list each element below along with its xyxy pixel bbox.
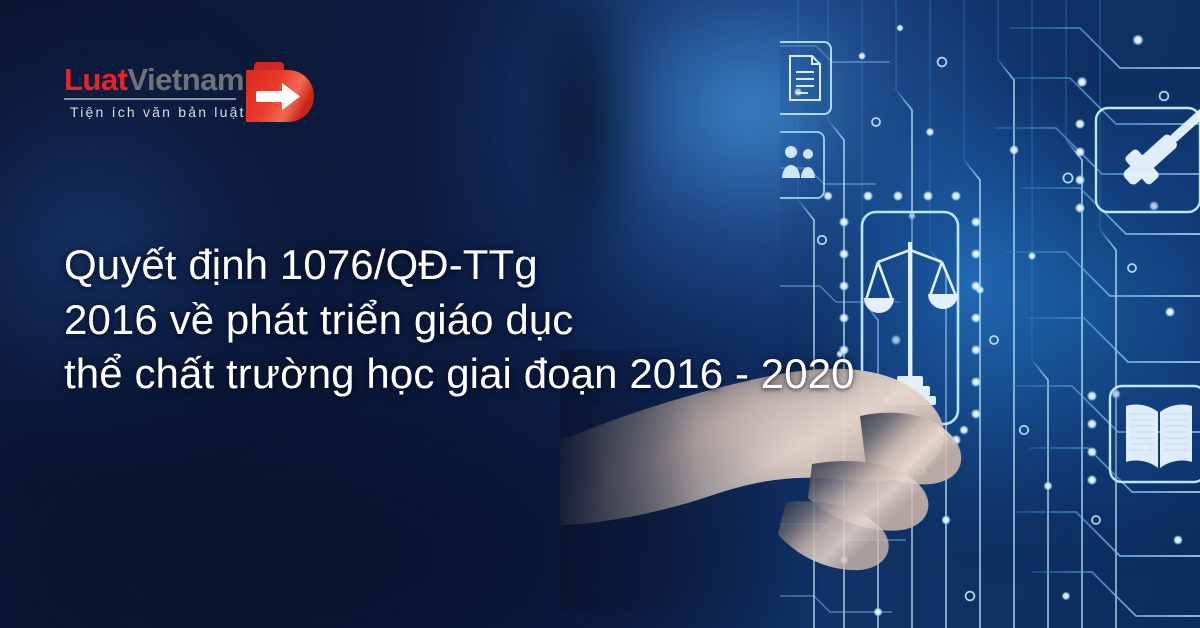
red-folder-arrow-icon xyxy=(242,58,320,126)
logo-tagline: Tiện ích văn bản luật xyxy=(70,104,246,120)
logo[interactable]: LuatVietnam Tiện ích văn bản luật xyxy=(64,58,314,138)
logo-word-secondary: Vietnam xyxy=(127,62,244,97)
banner: LuatVietnam Tiện ích văn bản luật xyxy=(0,0,1200,628)
title-line-2: 2016 về phát triển giáo dục xyxy=(64,293,984,348)
logo-divider xyxy=(64,98,236,100)
title-line-3: thể chất trường học giai đoạn 2016 - 202… xyxy=(64,347,984,402)
logo-wordmark: LuatVietnam xyxy=(64,64,244,95)
logo-word-primary: Luat xyxy=(64,62,127,97)
page-title: Quyết định 1076/QĐ-TTg 2016 về phát triể… xyxy=(64,238,984,402)
title-line-1: Quyết định 1076/QĐ-TTg xyxy=(64,238,984,293)
